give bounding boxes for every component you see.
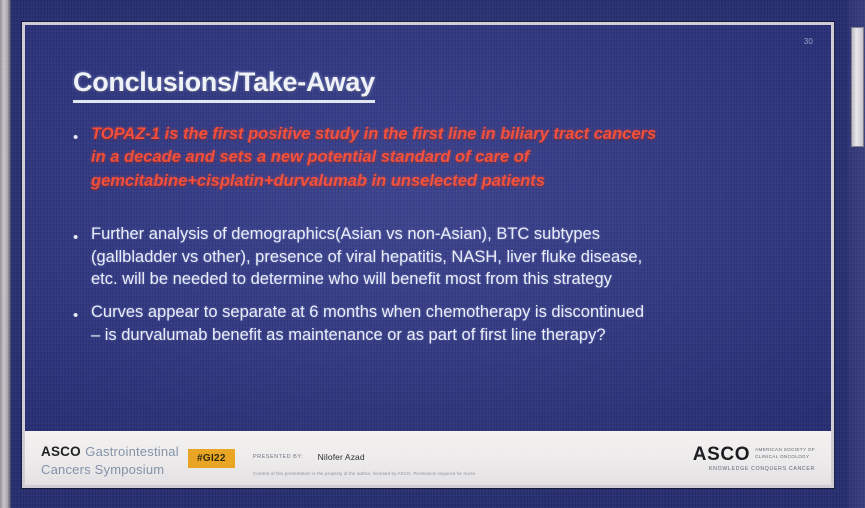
symposium-line-1: Gastrointestinal xyxy=(85,444,179,459)
asco-logo-word: ASCO xyxy=(693,445,750,464)
bullet-marker-icon: • xyxy=(73,301,91,323)
asco-tagline: KNOWLEDGE CONQUERS CANCER xyxy=(709,466,815,472)
bullet-marker-icon: • xyxy=(73,223,91,245)
asco-gi-symposium-logo: ASCO Gastrointestinal Cancers Symposium xyxy=(41,443,179,477)
monitor-screenshot: 30 Conclusions/Take-Away • TOPAZ-1 is th… xyxy=(0,0,865,508)
monitor-bezel-left xyxy=(0,0,11,508)
page-title: Conclusions/Take-Away xyxy=(73,67,375,98)
bullet-list: • TOPAZ-1 is the first positive study in… xyxy=(73,123,805,346)
list-item: • Curves appear to separate at 6 months … xyxy=(73,301,805,346)
asco-logo-line-2: CLINICAL ONCOLOGY xyxy=(755,454,815,461)
spacer xyxy=(73,291,805,301)
slide-number: 30 xyxy=(804,37,813,46)
scrollbar-thumb[interactable] xyxy=(851,27,864,147)
bullet-marker-icon: • xyxy=(73,123,91,145)
page-title-text: Conclusions/Take-Away xyxy=(73,67,375,103)
list-item-line: Further analysis of demographics(Asian v… xyxy=(91,223,805,246)
asco-brand-word: ASCO xyxy=(41,444,81,459)
list-item-line: (gallbladder vs other), presence of vira… xyxy=(91,246,805,269)
list-item-line: etc. will be needed to determine who wil… xyxy=(91,268,805,291)
asco-logo: ASCO AMERICAN SOCIETY OF CLINICAL ONCOLO… xyxy=(693,445,815,464)
list-item: • Further analysis of demographics(Asian… xyxy=(73,223,805,291)
spacer xyxy=(73,193,805,223)
list-item-line: – is durvalumab benefit as maintenance o… xyxy=(91,324,805,347)
vertical-scrollbar[interactable] xyxy=(848,0,865,508)
list-item-line: gemcitabine+cisplatin+durvalumab in unse… xyxy=(91,170,805,193)
list-item-text: Further analysis of demographics(Asian v… xyxy=(91,223,805,291)
hashtag-badge: #GI22 xyxy=(188,449,235,468)
asco-logo-line-1: AMERICAN SOCIETY OF xyxy=(755,447,815,454)
slide-footer: ASCO Gastrointestinal Cancers Symposium … xyxy=(25,431,831,485)
presenter-block: PRESENTED BY: Nilofer Azad Content of th… xyxy=(253,448,673,476)
presented-by-label: PRESENTED BY: xyxy=(253,454,303,460)
list-item-line: Curves appear to separate at 6 months wh… xyxy=(91,301,805,324)
list-item-text: TOPAZ-1 is the first positive study in t… xyxy=(91,123,805,193)
symposium-line-2: Cancers Symposium xyxy=(41,462,179,477)
list-item-line: TOPAZ-1 is the first positive study in t… xyxy=(91,123,805,146)
presenter-name: Nilofer Azad xyxy=(318,452,365,462)
copyright-disclaimer: Content of this presentation is the prop… xyxy=(253,471,673,476)
presentation-slide: 30 Conclusions/Take-Away • TOPAZ-1 is th… xyxy=(22,22,834,488)
list-item-text: Curves appear to separate at 6 months wh… xyxy=(91,301,805,346)
slide-content-area: 30 Conclusions/Take-Away • TOPAZ-1 is th… xyxy=(25,25,831,431)
list-item: • TOPAZ-1 is the first positive study in… xyxy=(73,123,805,193)
list-item-line: in a decade and sets a new potential sta… xyxy=(91,146,805,169)
